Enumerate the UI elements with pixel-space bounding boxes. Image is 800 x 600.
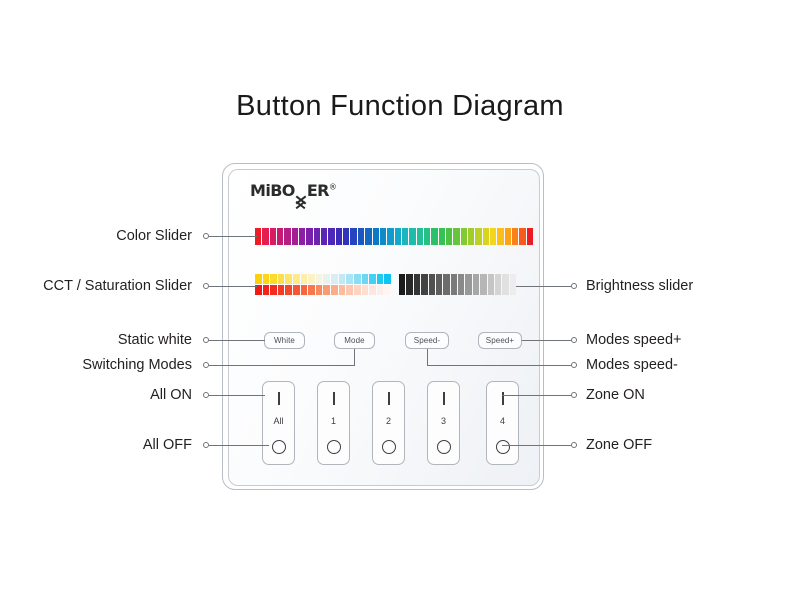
brightness-slider-segment[interactable] bbox=[414, 274, 420, 295]
cct-slider-segment-bottom bbox=[285, 285, 292, 295]
callout-line-switching-modes bbox=[209, 365, 355, 366]
color-slider-segment[interactable] bbox=[461, 228, 467, 245]
callout-label-modes-speed-plus: Modes speed+ bbox=[586, 333, 682, 348]
mode-button[interactable]: Mode bbox=[334, 332, 375, 349]
cct-slider-segment-top bbox=[263, 274, 270, 284]
color-slider-segment[interactable] bbox=[483, 228, 489, 245]
color-slider-segment[interactable] bbox=[299, 228, 305, 245]
cct-slider-segment[interactable] bbox=[323, 274, 330, 295]
cct-slider-segment[interactable] bbox=[369, 274, 376, 295]
color-slider-segment[interactable] bbox=[475, 228, 481, 245]
callout-label-zone-off: Zone OFF bbox=[586, 438, 652, 453]
cct-slider-segment-bottom bbox=[316, 285, 323, 295]
color-slider-segment[interactable] bbox=[453, 228, 459, 245]
zone-label: 2 bbox=[373, 416, 404, 426]
brightness-slider[interactable] bbox=[399, 274, 516, 295]
callout-label-zone-on: Zone ON bbox=[586, 388, 645, 403]
brightness-slider-segment[interactable] bbox=[488, 274, 494, 295]
zone-off-circle-icon[interactable] bbox=[382, 440, 396, 454]
zone-button-2[interactable]: 2 bbox=[372, 381, 405, 465]
page-title: Button Function Diagram bbox=[0, 90, 800, 123]
cct-slider-segment-top bbox=[384, 274, 391, 284]
cct-slider-segment[interactable] bbox=[384, 274, 391, 295]
callout-dot-brightness-slider bbox=[571, 283, 577, 289]
zone-on-bar-icon[interactable] bbox=[278, 392, 280, 405]
cct-slider-segment-bottom bbox=[301, 285, 308, 295]
brightness-slider-segment[interactable] bbox=[465, 274, 471, 295]
callout-line-cct-slider bbox=[209, 286, 257, 287]
zone-label: 1 bbox=[318, 416, 349, 426]
color-slider-segment[interactable] bbox=[431, 228, 437, 245]
color-slider-segment[interactable] bbox=[336, 228, 342, 245]
color-slider-segment[interactable] bbox=[277, 228, 283, 245]
zone-button-all[interactable]: All bbox=[262, 381, 295, 465]
callout-riser-switching-modes bbox=[354, 349, 355, 366]
cct-slider-segment[interactable] bbox=[377, 274, 384, 295]
cct-slider-segment-top bbox=[301, 274, 308, 284]
zone-off-circle-icon[interactable] bbox=[327, 440, 341, 454]
cct-slider-segment[interactable] bbox=[339, 274, 346, 295]
brightness-slider-segment[interactable] bbox=[443, 274, 449, 295]
color-slider-segment[interactable] bbox=[314, 228, 320, 245]
cct-slider-segment[interactable] bbox=[278, 274, 285, 295]
cct-slider-segment-top bbox=[377, 274, 384, 284]
cct-slider-segment[interactable] bbox=[346, 274, 353, 295]
cct-slider-segment[interactable] bbox=[308, 274, 315, 295]
zone-on-bar-icon[interactable] bbox=[388, 392, 390, 405]
cct-slider-segment[interactable] bbox=[362, 274, 369, 295]
callout-label-switching-modes: Switching Modes bbox=[82, 358, 192, 373]
cct-slider-segment[interactable] bbox=[285, 274, 292, 295]
color-slider[interactable] bbox=[255, 228, 533, 245]
cct-slider-segment-bottom bbox=[270, 285, 277, 295]
cct-slider-segment-bottom bbox=[339, 285, 346, 295]
cct-slider-segment-top bbox=[369, 274, 376, 284]
cct-slider-segment-bottom bbox=[369, 285, 376, 295]
callout-line-modes-speed-minus bbox=[427, 365, 571, 366]
cct-slider-segment-top bbox=[293, 274, 300, 284]
brightness-slider-segment[interactable] bbox=[473, 274, 479, 295]
cct-slider-segment-top bbox=[362, 274, 369, 284]
zone-label: 3 bbox=[428, 416, 459, 426]
white-button[interactable]: White bbox=[264, 332, 305, 349]
callout-label-brightness-slider: Brightness slider bbox=[586, 279, 693, 294]
cct-slider-segment-top bbox=[354, 274, 361, 284]
cct-slider-segment-bottom bbox=[331, 285, 338, 295]
callout-label-color-slider: Color Slider bbox=[116, 229, 192, 244]
color-slider-segment[interactable] bbox=[358, 228, 364, 245]
cct-slider-segment-bottom bbox=[263, 285, 270, 295]
callout-riser-modes-speed-minus bbox=[427, 349, 428, 366]
color-slider-segment[interactable] bbox=[519, 228, 525, 245]
logo-text-part1: MiBO bbox=[250, 181, 295, 200]
brightness-slider-segment[interactable] bbox=[406, 274, 412, 295]
color-slider-segment[interactable] bbox=[328, 228, 334, 245]
callout-dot-zone-off bbox=[571, 442, 577, 448]
brightness-slider-segment[interactable] bbox=[502, 274, 508, 295]
callout-line-modes-speed-plus bbox=[522, 340, 571, 341]
color-slider-segment[interactable] bbox=[373, 228, 379, 245]
color-slider-segment[interactable] bbox=[424, 228, 430, 245]
callout-line-static-white bbox=[209, 340, 265, 341]
cct-slider-segment[interactable] bbox=[316, 274, 323, 295]
color-slider-segment[interactable] bbox=[284, 228, 290, 245]
callout-line-zone-on bbox=[502, 395, 571, 396]
zone-label: 4 bbox=[487, 416, 518, 426]
speed-plus-button[interactable]: Speed+ bbox=[478, 332, 522, 349]
callout-dot-modes-speed-minus bbox=[571, 362, 577, 368]
logo-text-part2: ER bbox=[307, 181, 329, 200]
miboxer-logo: MiBOER® bbox=[250, 181, 336, 200]
color-slider-segment[interactable] bbox=[387, 228, 393, 245]
cct-slider-segment-top bbox=[270, 274, 277, 284]
cct-slider-segment-bottom bbox=[377, 285, 384, 295]
cct-slider-segment[interactable] bbox=[301, 274, 308, 295]
zone-button-4[interactable]: 4 bbox=[486, 381, 519, 465]
zone-on-bar-icon[interactable] bbox=[333, 392, 335, 405]
color-slider-segment[interactable] bbox=[446, 228, 452, 245]
color-slider-segment[interactable] bbox=[262, 228, 268, 245]
cct-slider-segment-top bbox=[278, 274, 285, 284]
color-slider-segment[interactable] bbox=[402, 228, 408, 245]
color-slider-segment[interactable] bbox=[380, 228, 386, 245]
callout-label-modes-speed-minus: Modes speed- bbox=[586, 358, 678, 373]
cct-slider-segment-top bbox=[308, 274, 315, 284]
brightness-slider-segment[interactable] bbox=[480, 274, 486, 295]
brightness-slider-segment[interactable] bbox=[399, 274, 405, 295]
callout-dot-modes-speed-plus bbox=[571, 337, 577, 343]
cct-slider-segment-bottom bbox=[278, 285, 285, 295]
color-slider-segment[interactable] bbox=[292, 228, 298, 245]
zone-button-3[interactable]: 3 bbox=[427, 381, 460, 465]
color-slider-segment[interactable] bbox=[321, 228, 327, 245]
cct-slider-segment[interactable] bbox=[263, 274, 270, 295]
cct-slider-segment-bottom bbox=[384, 285, 391, 295]
callout-label-all-off: All OFF bbox=[143, 438, 192, 453]
callout-line-all-off bbox=[209, 445, 269, 446]
brightness-slider-segment[interactable] bbox=[429, 274, 435, 295]
callout-line-brightness-slider bbox=[516, 286, 571, 287]
zone-off-circle-icon[interactable] bbox=[496, 440, 510, 454]
color-slider-segment[interactable] bbox=[490, 228, 496, 245]
cct-slider-segment[interactable] bbox=[255, 274, 262, 295]
callout-line-all-on bbox=[209, 395, 265, 396]
cct-slider-segment[interactable] bbox=[270, 274, 277, 295]
brightness-slider-segment[interactable] bbox=[510, 274, 516, 295]
callout-label-static-white: Static white bbox=[118, 333, 192, 348]
brightness-slider-segment[interactable] bbox=[436, 274, 442, 295]
registered-trademark-icon: ® bbox=[329, 183, 336, 192]
brightness-slider-segment[interactable] bbox=[451, 274, 457, 295]
color-slider-segment[interactable] bbox=[409, 228, 415, 245]
callout-label-cct-saturation-slider: CCT / Saturation Slider bbox=[43, 279, 192, 294]
color-slider-segment[interactable] bbox=[343, 228, 349, 245]
cct-slider-segment-bottom bbox=[354, 285, 361, 295]
cct-slider-segment[interactable] bbox=[354, 274, 361, 295]
cct-slider-segment[interactable] bbox=[293, 274, 300, 295]
color-slider-segment[interactable] bbox=[527, 228, 533, 245]
cct-slider-segment-bottom bbox=[293, 285, 300, 295]
brightness-slider-segment[interactable] bbox=[421, 274, 427, 295]
callout-dot-zone-on bbox=[571, 392, 577, 398]
color-slider-segment[interactable] bbox=[395, 228, 401, 245]
zone-off-circle-icon[interactable] bbox=[437, 440, 451, 454]
cct-slider-segment-bottom bbox=[323, 285, 330, 295]
zone-label: All bbox=[263, 416, 294, 426]
cct-slider-segment-top bbox=[285, 274, 292, 284]
cct-slider-segment-top bbox=[331, 274, 338, 284]
callout-label-all-on: All ON bbox=[150, 388, 192, 403]
zone-off-circle-icon[interactable] bbox=[272, 440, 286, 454]
color-slider-segment[interactable] bbox=[306, 228, 312, 245]
zone-button-1[interactable]: 1 bbox=[317, 381, 350, 465]
color-slider-segment[interactable] bbox=[439, 228, 445, 245]
zone-on-bar-icon[interactable] bbox=[502, 392, 504, 405]
color-slider-segment[interactable] bbox=[417, 228, 423, 245]
brightness-slider-segment[interactable] bbox=[495, 274, 501, 295]
speed-minus-button[interactable]: Speed- bbox=[405, 332, 449, 349]
cct-slider-segment-bottom bbox=[308, 285, 315, 295]
cct-slider-segment-bottom bbox=[346, 285, 353, 295]
color-slider-segment[interactable] bbox=[512, 228, 518, 245]
color-slider-segment[interactable] bbox=[365, 228, 371, 245]
color-slider-segment[interactable] bbox=[497, 228, 503, 245]
color-slider-segment[interactable] bbox=[350, 228, 356, 245]
cct-slider-segment-top bbox=[323, 274, 330, 284]
cct-slider-segment-top bbox=[255, 274, 262, 284]
zone-on-bar-icon[interactable] bbox=[443, 392, 445, 405]
cct-slider-segment-top bbox=[346, 274, 353, 284]
cct-slider-segment[interactable] bbox=[331, 274, 338, 295]
color-slider-segment[interactable] bbox=[270, 228, 276, 245]
brightness-slider-segment[interactable] bbox=[458, 274, 464, 295]
color-slider-segment[interactable] bbox=[505, 228, 511, 245]
cct-saturation-slider[interactable] bbox=[255, 274, 391, 295]
cct-slider-segment-bottom bbox=[362, 285, 369, 295]
callout-line-zone-off bbox=[502, 445, 571, 446]
color-slider-segment[interactable] bbox=[468, 228, 474, 245]
callout-line-color-slider bbox=[209, 236, 257, 237]
cct-slider-segment-top bbox=[339, 274, 346, 284]
cct-slider-segment-top bbox=[316, 274, 323, 284]
